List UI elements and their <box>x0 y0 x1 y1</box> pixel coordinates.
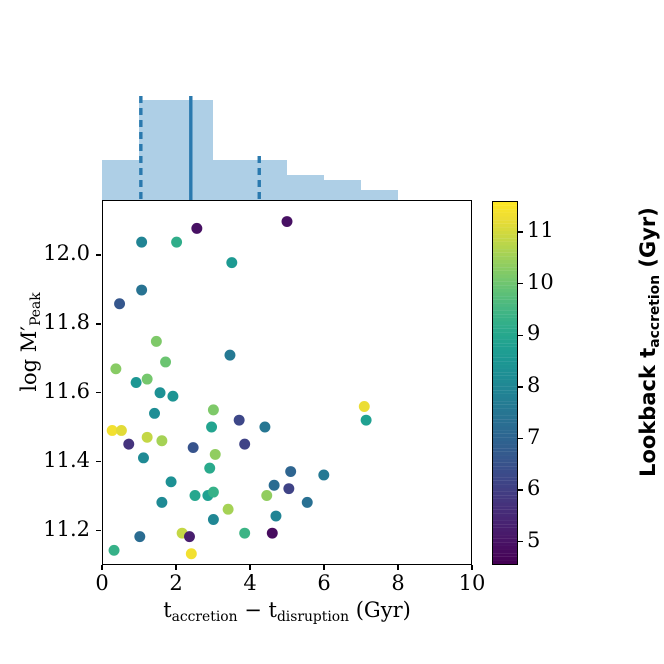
x-label-t1: t <box>163 598 171 622</box>
x-tick <box>249 565 250 570</box>
scatter-point <box>210 449 221 460</box>
scatter-point <box>166 476 177 487</box>
scatter-point <box>171 237 182 248</box>
scatter-point <box>116 425 127 436</box>
scatter-point <box>138 452 149 463</box>
colorbar-label: Lookback taccretion (Gyr) <box>636 192 660 492</box>
scatter-point <box>223 504 234 515</box>
scatter-point <box>142 374 153 385</box>
y-axis-label: log M′Peak <box>17 227 41 457</box>
scatter-point <box>155 387 166 398</box>
colorbar-tick-label: 9 <box>527 321 540 345</box>
x-tick <box>175 565 176 570</box>
x-label-sub-accretion: accretion <box>172 609 238 625</box>
histogram-bar <box>324 180 361 200</box>
scatter-point <box>186 548 197 559</box>
y-label-sub-peak: Peak <box>28 292 44 326</box>
y-tick <box>96 461 101 462</box>
y-tick <box>96 392 101 393</box>
colorbar-tick-label: 7 <box>527 425 540 449</box>
scatter-point <box>261 490 272 501</box>
colorbar-tick-label: 5 <box>527 528 540 552</box>
scatter-point <box>234 415 245 426</box>
x-label-unit: (Gyr) <box>349 598 411 622</box>
scatter-plot-axes <box>102 200 472 565</box>
scatter-point <box>285 466 296 477</box>
scatter-point <box>318 469 329 480</box>
x-tick-label: 10 <box>452 571 492 595</box>
scatter-point <box>267 528 278 539</box>
scatter-svg <box>103 201 471 564</box>
y-label-prime: ′ <box>17 326 41 331</box>
x-tick <box>471 565 472 570</box>
scatter-point <box>110 363 121 374</box>
scatter-point <box>167 391 178 402</box>
scatter-point <box>208 487 219 498</box>
scatter-point <box>270 511 281 522</box>
x-tick-label: 4 <box>230 571 270 595</box>
histogram-bar <box>361 190 398 200</box>
histogram-bar <box>176 100 213 200</box>
x-label-t2: t <box>268 598 276 622</box>
x-label-sub-disruption: disruption <box>277 609 349 625</box>
histogram-svg <box>102 96 472 200</box>
scatter-point <box>239 528 250 539</box>
x-label-minus: − <box>238 598 269 622</box>
colorbar-tick <box>518 489 523 490</box>
y-tick <box>96 254 101 255</box>
scatter-point <box>206 422 217 433</box>
scatter-point <box>282 216 293 227</box>
x-tick <box>397 565 398 570</box>
histogram-bar <box>139 100 176 200</box>
histogram-bar <box>102 160 139 200</box>
scatter-point <box>136 285 147 296</box>
scatter-point <box>151 336 162 347</box>
figure-canvas: 024681011.211.411.611.812.0 taccretion −… <box>0 0 664 664</box>
scatter-point <box>224 350 235 361</box>
scatter-point <box>109 545 120 556</box>
x-tick-label: 6 <box>304 571 344 595</box>
colorbar-tick <box>518 283 523 284</box>
scatter-point <box>283 483 294 494</box>
colorbar-tick <box>518 386 523 387</box>
scatter-point <box>142 432 153 443</box>
x-tick-label: 2 <box>156 571 196 595</box>
histogram-bar <box>250 160 287 200</box>
histogram-bar <box>287 175 324 200</box>
scatter-point <box>131 377 142 388</box>
colorbar-gradient <box>493 202 517 564</box>
colorbar-tick-label: 11 <box>527 218 554 242</box>
scatter-point <box>160 356 171 367</box>
y-tick <box>96 323 101 324</box>
scatter-point <box>156 497 167 508</box>
marginal-histogram <box>102 96 472 200</box>
colorbar-tick-label: 6 <box>527 476 540 500</box>
scatter-point <box>188 442 199 453</box>
scatter-point <box>134 531 145 542</box>
y-tick-label: 11.2 <box>16 517 90 541</box>
cb-label-unit: (Gyr) <box>636 207 660 275</box>
scatter-point <box>190 490 201 501</box>
scatter-point <box>204 463 215 474</box>
cb-label-prefix: Lookback t <box>636 348 660 477</box>
scatter-point <box>302 497 313 508</box>
scatter-point <box>136 237 147 248</box>
x-tick <box>323 565 324 570</box>
colorbar-tick <box>518 231 523 232</box>
x-tick-label: 8 <box>378 571 418 595</box>
scatter-point <box>208 514 219 525</box>
scatter-point <box>184 531 195 542</box>
colorbar <box>492 201 518 565</box>
cb-label-sub: accretion <box>647 275 663 348</box>
scatter-point <box>361 415 372 426</box>
scatter-point <box>259 422 270 433</box>
colorbar-tick-label: 10 <box>527 270 554 294</box>
scatter-point <box>114 298 125 309</box>
scatter-point <box>208 404 219 415</box>
colorbar-tick-label: 8 <box>527 373 540 397</box>
y-tick <box>96 530 101 531</box>
scatter-point <box>239 439 250 450</box>
x-tick-label: 0 <box>82 571 122 595</box>
x-axis-label: taccretion − tdisruption (Gyr) <box>0 598 574 622</box>
x-tick <box>101 565 102 570</box>
histogram-bar <box>213 160 250 200</box>
colorbar-tick <box>518 438 523 439</box>
scatter-point <box>123 439 134 450</box>
scatter-point <box>269 480 280 491</box>
scatter-point <box>156 435 167 446</box>
colorbar-tick <box>518 541 523 542</box>
scatter-point <box>359 401 370 412</box>
scatter-point <box>191 223 202 234</box>
scatter-point <box>149 408 160 419</box>
colorbar-tick <box>518 335 523 336</box>
scatter-point <box>226 257 237 268</box>
y-label-log-m: log M <box>17 331 41 392</box>
